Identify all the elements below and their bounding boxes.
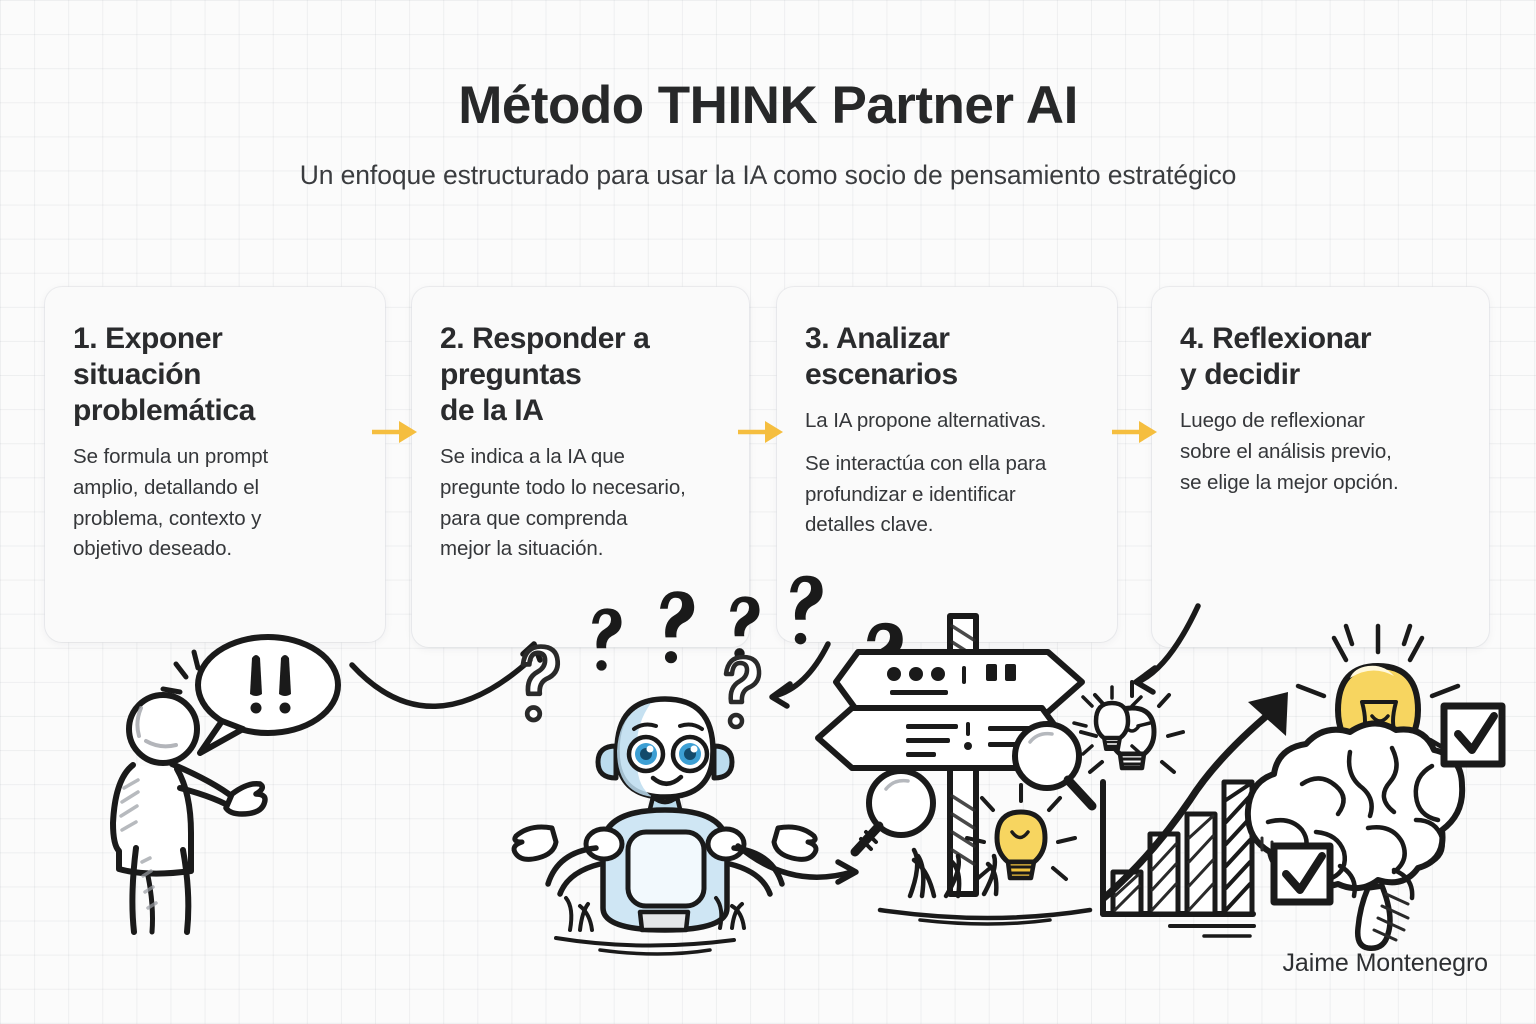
page-title: Método THINK Partner AI bbox=[0, 78, 1536, 134]
step-card-3-body-1: La IA propone alternativas. bbox=[805, 406, 1089, 437]
emphasis-lines-icon bbox=[163, 652, 198, 692]
step-card-4-body: Luego de reflexionar sobre el análisis p… bbox=[1180, 406, 1461, 498]
step-card-1-title: 1. Exponer situación problemática bbox=[73, 321, 357, 429]
curved-arrow-icon-4 bbox=[1136, 606, 1198, 692]
right-arrow-icon-3 bbox=[1112, 415, 1160, 449]
right-arrow-icon-2 bbox=[738, 415, 786, 449]
step-card-2-body: Se indica a la IA que pregunte todo lo n… bbox=[440, 442, 721, 565]
right-arrow-icon-1 bbox=[372, 415, 420, 449]
step-card-1-body: Se formula un prompt amplio, detallando … bbox=[73, 442, 357, 565]
bar-chart-icon bbox=[1113, 782, 1252, 914]
step-card-3-body-2: Se interactúa con ella para profundizar … bbox=[805, 449, 1089, 541]
brain-icon bbox=[1248, 723, 1462, 948]
scene-person-pointing bbox=[113, 637, 338, 932]
magnifier-icon-2 bbox=[855, 771, 933, 852]
scene-brain-decision bbox=[1074, 626, 1502, 948]
step-card-3-title: 3. Analizar escenarios bbox=[805, 321, 1089, 393]
curved-arrow-icon-2 bbox=[772, 644, 828, 706]
curved-arrow-icon-1 bbox=[352, 644, 540, 706]
magnifier-icon-1 bbox=[1015, 724, 1092, 806]
lightbulb-icon-2 bbox=[967, 785, 1075, 879]
checkbox-checked-icon-1 bbox=[1444, 706, 1502, 764]
page-subtitle: Un enfoque estructurado para usar la IA … bbox=[0, 160, 1536, 191]
checkbox-checked-icon-2 bbox=[1274, 846, 1330, 902]
step-card-2-title: 2. Responder a preguntas de la IA bbox=[440, 321, 721, 429]
illustration-layer bbox=[0, 556, 1536, 976]
author-signature: Jaime Montenegro bbox=[1283, 949, 1488, 978]
direction-sign-icon-1 bbox=[836, 652, 1082, 712]
speech-bubble-icon bbox=[198, 637, 338, 753]
step-card-4-title: 4. Reflexionar y decidir bbox=[1180, 321, 1461, 393]
header: Método THINK Partner AI Un enfoque estru… bbox=[0, 0, 1536, 191]
